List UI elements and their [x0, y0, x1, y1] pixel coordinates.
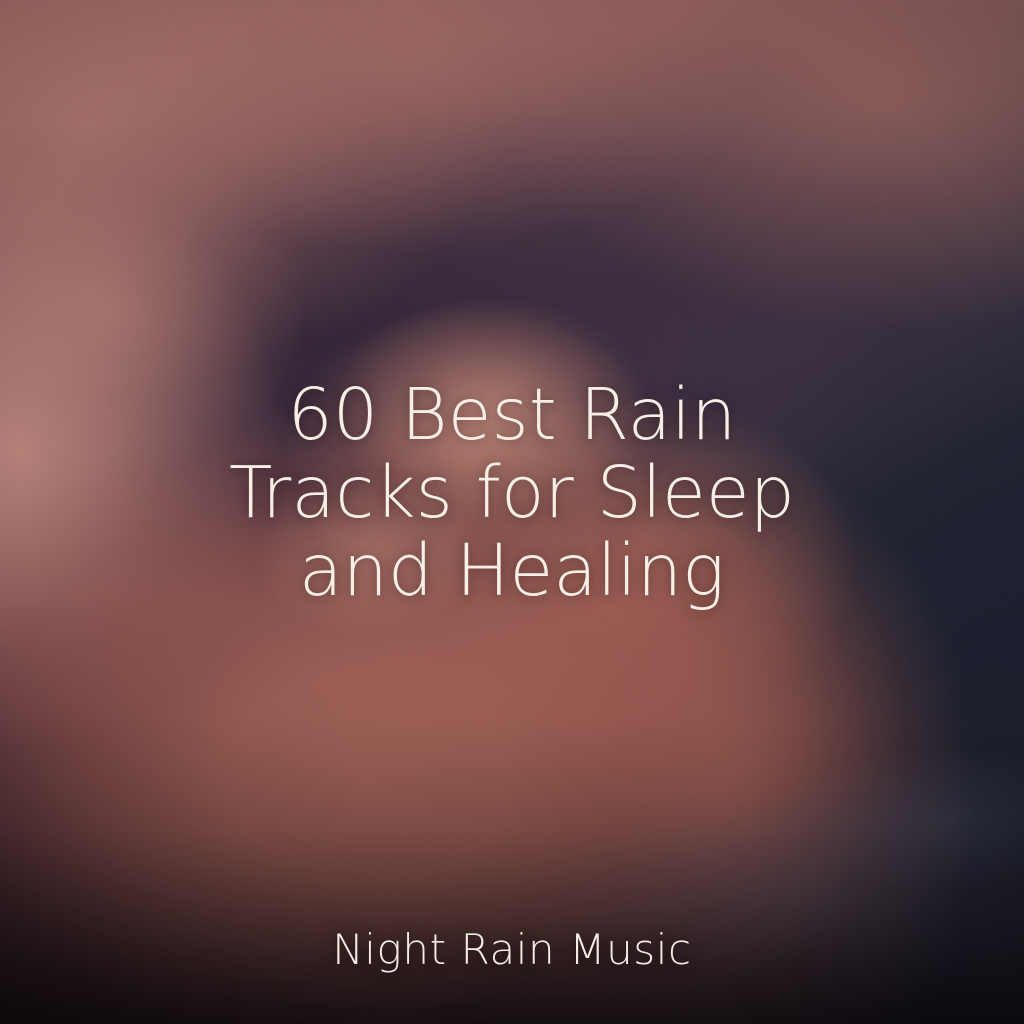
bottom-shadow-falloff: [0, 0, 1024, 1024]
blue-wisp-clouds-lower-right: [0, 0, 1024, 1024]
vignette-overlay: [0, 0, 1024, 1024]
album-cover: 60 Best Rain Tracks for Sleep and Healin…: [0, 0, 1024, 1024]
cloud-highlight-crown: [0, 0, 1024, 1024]
cloud-edge-against-night-sky: [0, 0, 1024, 1024]
dark-purple-cloud-bank: [0, 0, 1024, 1024]
album-title-line-3: and Healing: [60, 532, 964, 610]
album-title-line-2: Tracks for Sleep: [60, 454, 964, 532]
album-title-line-1: 60 Best Rain: [60, 376, 964, 454]
film-grain-texture: [0, 0, 1024, 1024]
artist-name: Night Rain Music: [0, 925, 1024, 975]
navy-night-sky-region: [0, 0, 1024, 1024]
sky-base-gradient: [0, 0, 1024, 1024]
terracotta-cumulus-cloud: [0, 0, 1024, 1024]
cover-text-content: 60 Best Rain Tracks for Sleep and Healin…: [0, 0, 1024, 1024]
album-title: 60 Best Rain Tracks for Sleep and Healin…: [0, 376, 1024, 610]
lit-rose-plume-left-edge: [0, 0, 1024, 1024]
dusty-rose-cloud-upper-left: [0, 0, 1024, 1024]
